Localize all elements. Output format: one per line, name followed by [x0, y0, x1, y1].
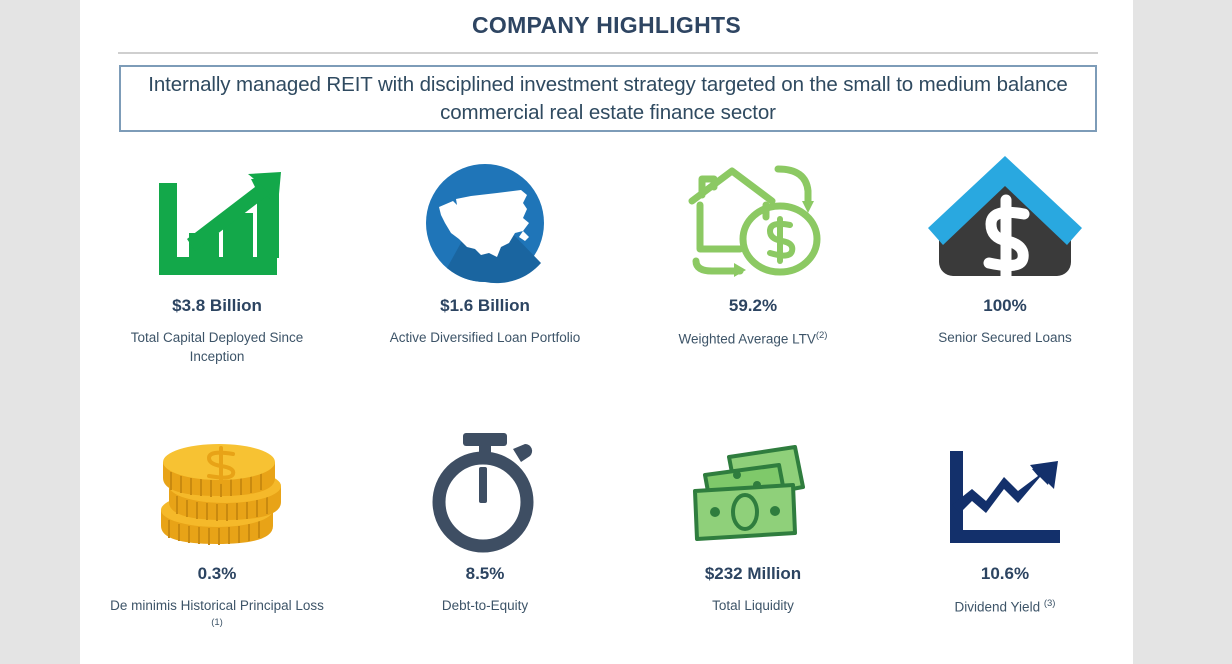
house-dollar-roof-icon [880, 140, 1130, 285]
stat-value: $1.6 Billion [360, 296, 610, 316]
stat-label-text: Dividend Yield [955, 600, 1041, 615]
stat-label-text: Active Diversified Loan Portfolio [390, 330, 581, 345]
stat-label: Total Capital Deployed Since Inception [92, 329, 342, 366]
stat-label-text: Senior Secured Loans [938, 330, 1072, 345]
stat-footnote: (1) [211, 617, 223, 628]
highlight-card-total-capital-deployed: $3.8 Billion Total Capital Deployed Sinc… [92, 140, 342, 366]
subtitle-text: Internally managed REIT with disciplined… [121, 71, 1095, 125]
stat-value: 8.5% [360, 564, 610, 584]
stat-label: Active Diversified Loan Portfolio [360, 329, 610, 348]
stat-footnote: (3) [1044, 598, 1056, 609]
title-divider [118, 52, 1098, 54]
stat-value: 100% [880, 296, 1130, 316]
stat-label: De minimis Historical Principal Loss (1) [92, 597, 342, 636]
us-map-circle-icon [360, 140, 610, 285]
stat-label: Dividend Yield (3) [880, 597, 1130, 617]
stat-value: $232 Million [628, 564, 878, 584]
stat-label: Total Liquidity [628, 597, 878, 616]
highlights-grid: $3.8 Billion Total Capital Deployed Sinc… [80, 140, 1133, 660]
stat-value: 10.6% [880, 564, 1130, 584]
highlight-card-weighted-average-ltv: 59.2% Weighted Average LTV(2) [628, 140, 878, 349]
highlight-card-active-loan-portfolio: $1.6 Billion Active Diversified Loan Por… [360, 140, 610, 348]
page-title: COMPANY HIGHLIGHTS [80, 12, 1133, 39]
highlight-card-dividend-yield: 10.6% Dividend Yield (3) [880, 408, 1130, 617]
stat-value: 59.2% [628, 296, 878, 316]
cash-bills-icon [628, 408, 878, 553]
stat-footnote: (2) [816, 330, 828, 341]
stat-label-text: Total Liquidity [712, 598, 794, 613]
slide-canvas: COMPANY HIGHLIGHTS Internally managed RE… [80, 0, 1133, 664]
stat-label-text: Debt-to-Equity [442, 598, 528, 613]
coin-stack-icon [92, 408, 342, 553]
highlight-card-debt-to-equity: 8.5% Debt-to-Equity [360, 408, 610, 616]
stat-label: Senior Secured Loans [880, 329, 1130, 348]
subtitle-callout-box: Internally managed REIT with disciplined… [119, 65, 1097, 132]
line-chart-arrow-icon [880, 408, 1130, 553]
highlight-card-historical-principal-loss: 0.3% De minimis Historical Principal Los… [92, 408, 342, 636]
stat-label-text: De minimis Historical Principal Loss [110, 598, 324, 613]
stat-label-text: Total Capital Deployed Since Inception [131, 330, 304, 364]
highlight-card-total-liquidity: $232 Million Total Liquidity [628, 408, 878, 616]
stat-value: $3.8 Billion [92, 296, 342, 316]
highlight-card-senior-secured-loans: 100% Senior Secured Loans [880, 140, 1130, 348]
stat-label: Debt-to-Equity [360, 597, 610, 616]
stat-label: Weighted Average LTV(2) [628, 329, 878, 349]
bar-chart-growth-icon [92, 140, 342, 285]
house-refinance-dollar-icon [628, 140, 878, 285]
stat-value: 0.3% [92, 564, 342, 584]
stat-label-text: Weighted Average LTV [679, 332, 816, 347]
stopwatch-icon [360, 408, 610, 553]
